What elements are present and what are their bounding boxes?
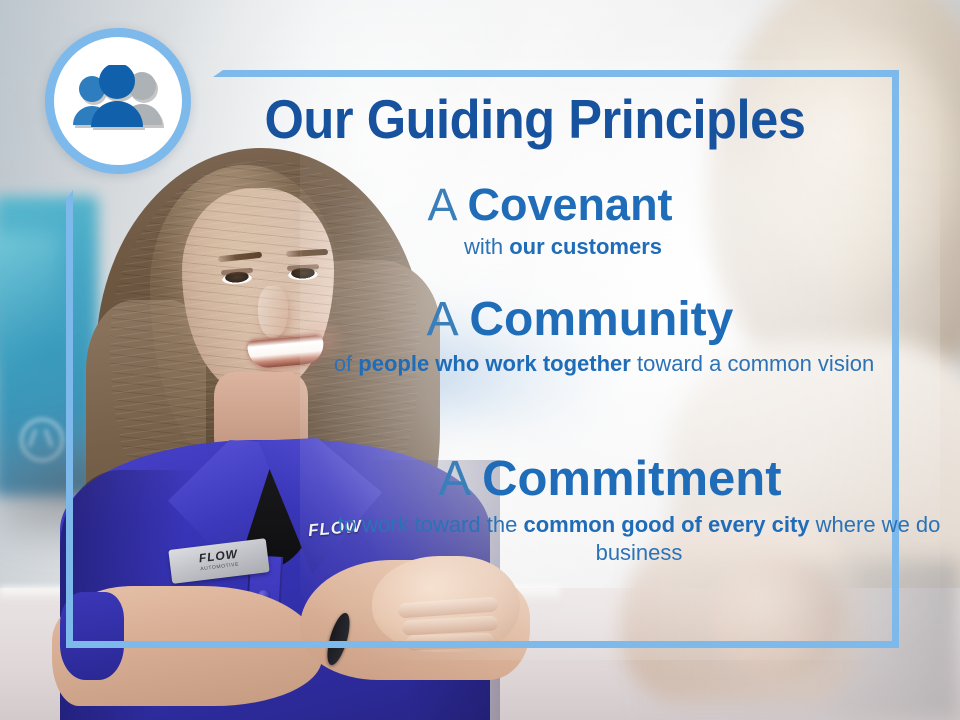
guiding-principles-graphic: FLOW FLOW AUTOMOTIVE — [0, 0, 960, 720]
principle-article: A — [427, 293, 456, 346]
principle-subtext: with our customers — [200, 234, 900, 261]
principle-heading: A Covenant — [200, 182, 900, 228]
polo-sleeve-cuff — [60, 592, 124, 680]
principle-word: Community — [469, 293, 733, 346]
text-content: Our Guiding Principles A Covenant with o… — [200, 0, 900, 720]
principle-word: Covenant — [468, 179, 673, 230]
principle-covenant: A Covenant with our customers — [200, 182, 900, 261]
principle-subtext: to work toward the common good of every … — [260, 511, 960, 567]
principle-subtext: of people who work together toward a com… — [230, 351, 930, 378]
principle-article: A — [427, 179, 455, 230]
people-badge — [45, 28, 191, 174]
people-group-icon — [64, 65, 172, 137]
principle-article: A — [438, 452, 468, 506]
page-title: Our Guiding Principles — [227, 92, 843, 147]
principle-community: A Community of people who work together … — [230, 296, 930, 378]
principle-heading: A Commitment — [260, 455, 960, 505]
principle-word: Commitment — [482, 452, 781, 506]
principle-heading: A Community — [230, 296, 930, 345]
principle-commitment: A Commitment to work toward the common g… — [260, 455, 960, 567]
